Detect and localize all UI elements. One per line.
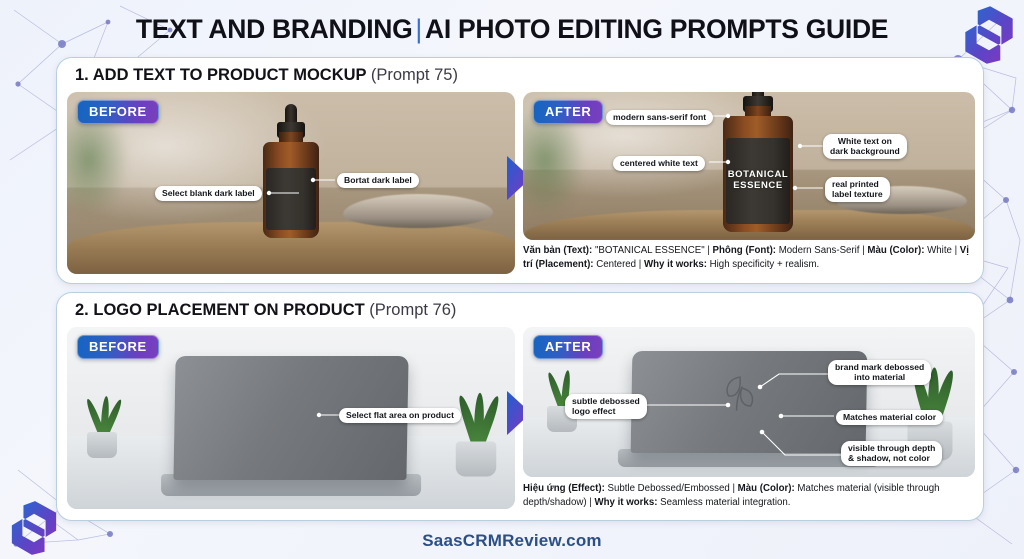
before-badge-2: BEFORE xyxy=(77,335,159,359)
section-1-caption: Văn bản (Text): "BOTANICAL ESSENCE" | Ph… xyxy=(523,244,977,272)
section-2-prompt-id: (Prompt 76) xyxy=(369,301,456,319)
caption-2-value-effect: Subtle Debossed/Embossed | xyxy=(605,483,738,494)
section-card-2: 2. LOGO PLACEMENT ON PRODUCT (Prompt 76) xyxy=(56,292,984,521)
after-badge-1: AFTER xyxy=(533,100,603,124)
printed-dark-label: BOTANICAL ESSENCE xyxy=(726,138,790,224)
debossed-leaf-brand-mark-icon xyxy=(711,364,768,420)
plant-pot xyxy=(87,432,117,458)
after-badge-2: AFTER xyxy=(533,335,603,359)
page-title-main: TEXT AND BRANDING xyxy=(136,14,413,44)
blurred-foliage xyxy=(523,110,587,220)
section-1-heading: 1. ADD TEXT TO PRODUCT MOCKUP (Prompt 75… xyxy=(75,66,458,85)
section-2-caption: Hiệu ứng (Effect): Subtle Debossed/Embos… xyxy=(523,482,977,510)
caption-1-label-text: Văn bản (Text): xyxy=(523,245,592,256)
caption-2-label-color: Màu (Color): xyxy=(738,483,795,494)
callout-matches-material-color: Matches material color xyxy=(836,410,943,425)
product-label-text: BOTANICAL ESSENCE xyxy=(728,170,789,191)
caption-1-label-why: Why it works: xyxy=(644,259,707,270)
caption-1-value-color: White | xyxy=(924,245,959,256)
before-badge-1: BEFORE xyxy=(77,100,159,124)
plant-pot xyxy=(456,442,497,477)
caption-1-label-font: Phông (Font): xyxy=(713,245,776,256)
footer-brand-text: SaasCRMReview.com xyxy=(0,531,1024,551)
section-1-before-panel: Select blank dark label Bortat dark labe… xyxy=(67,92,515,274)
callout-brand-mark-debossed-into-material: brand mark debossed into material xyxy=(828,360,931,385)
stone-prop xyxy=(343,194,493,228)
page-title: TEXT AND BRANDING|AI PHOTO EDITING PROMP… xyxy=(0,14,1024,45)
callout-subtle-debossed-logo-effect: subtle debossed logo effect xyxy=(565,394,647,419)
caption-1-value-why: High specificity + realism. xyxy=(707,259,819,270)
label-line-2: ESSENCE xyxy=(728,181,789,192)
blurred-foliage xyxy=(67,110,131,220)
section-2-number: 2. xyxy=(75,301,89,319)
caption-1-value-font: Modern Sans-Serif | xyxy=(776,245,867,256)
callout-centered-white-text: centered white text xyxy=(613,156,705,171)
potted-plant-left xyxy=(81,392,123,458)
caption-1-label-color: Màu (Color): xyxy=(867,245,924,256)
section-1-number: 1. xyxy=(75,66,89,84)
blank-dark-label xyxy=(266,168,316,230)
callout-modern-sans-serif-font: modern sans-serif font xyxy=(606,110,713,125)
section-2-heading: 2. LOGO PLACEMENT ON PRODUCT (Prompt 76) xyxy=(75,301,456,320)
caption-2-label-why: Why it works: xyxy=(594,497,657,508)
callout-visible-through-depth-shadow: visible through depth & shadow, not colo… xyxy=(841,441,942,466)
potted-plant-right xyxy=(448,388,505,477)
section-card-1: 1. ADD TEXT TO PRODUCT MOCKUP (Prompt 75… xyxy=(56,57,984,284)
callout-select-flat-area-on-product: Select flat area on product xyxy=(339,408,461,423)
page-title-sub: AI PHOTO EDITING PROMPTS GUIDE xyxy=(425,14,888,44)
dropper-bottle xyxy=(263,120,319,238)
dropper-bottle: BOTANICAL ESSENCE xyxy=(723,92,793,232)
callout-real-printed-label-texture: real printed label texture xyxy=(825,177,890,202)
page-title-divider: | xyxy=(412,14,425,44)
callout-select-blank-dark-label: Select blank dark label xyxy=(155,186,262,201)
callout-bortat-dark-label: Bortat dark label xyxy=(337,173,419,188)
caption-2-value-why: Seamless material integration. xyxy=(657,497,790,508)
caption-1-value-text: "BOTANICAL ESSENCE" | xyxy=(592,245,712,256)
callout-white-text-on-dark-background: White text on dark background xyxy=(823,134,907,159)
caption-2-label-effect: Hiệu ứng (Effect): xyxy=(523,483,605,494)
section-1-prompt-id: (Prompt 75) xyxy=(371,66,458,84)
caption-1-value-placement: Centered | xyxy=(594,259,644,270)
section-2-before-panel: Select flat area on product BEFORE xyxy=(67,327,515,509)
section-1-after-panel: BOTANICAL ESSENCE modern sans-serif font… xyxy=(523,92,975,240)
section-1-title: ADD TEXT TO PRODUCT MOCKUP xyxy=(93,66,366,84)
section-2-after-panel: subtle debossed logo effect brand mark d… xyxy=(523,327,975,477)
section-2-title: LOGO PLACEMENT ON PRODUCT xyxy=(93,301,364,319)
